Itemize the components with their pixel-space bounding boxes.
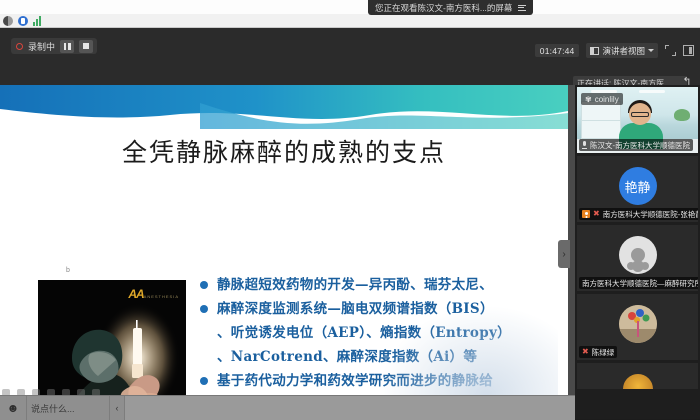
recording-label: 录制中	[28, 40, 55, 53]
meeting-app-window: 您正在观看陈汉文-南方医科...的屏幕 录制中 锁定画面 01:47:44 演讲…	[0, 0, 700, 419]
flower-icon: ✾	[585, 95, 592, 104]
view-mode-label: 演讲者视图	[602, 45, 645, 57]
participant-tile-avatar[interactable]: 南方医科大学顺德医院—麻醉研究所	[577, 225, 698, 291]
bullet-dot-icon	[200, 377, 208, 385]
shield-icon[interactable]	[18, 16, 28, 26]
chevron-down-icon	[648, 49, 654, 52]
participant-tile-avatar[interactable]: 艳静 ✖ 南方医科大学顺德医院-张艳静	[577, 156, 698, 222]
slide-wave-banner	[0, 85, 568, 130]
avatar	[619, 236, 657, 274]
bullet-text: 静脉超短效药物的开发—异丙酚、瑞芬太尼、	[217, 275, 493, 296]
shared-screen-stage[interactable]: 全凭静脉麻醉的成熟的支点 b	[0, 85, 568, 395]
recording-indicator: 录制中	[11, 38, 97, 54]
mic-muted-icon: ✖	[593, 210, 600, 218]
bullet-dot-icon	[200, 281, 208, 289]
layout-icon	[590, 47, 599, 55]
header-right-controls: 01:47:44 演讲者视图	[535, 43, 694, 58]
view-mode-selector[interactable]: 演讲者视图	[586, 43, 658, 58]
participant-name-label: ✖ 陈绿绿	[579, 346, 617, 358]
list-item: 静脉超短效药物的开发—异丙酚、瑞芬太尼、	[200, 275, 550, 296]
stop-recording-button[interactable]	[79, 40, 93, 53]
participant-name-label: 陈汉文-南方医科大学顺德医院	[579, 139, 693, 151]
avatar-photo-graphic	[619, 305, 657, 343]
participant-tile-partial[interactable]	[577, 363, 698, 389]
participant-tile-video[interactable]: ✾ coinlily 陈汉文-南方医科大学顺德医院	[577, 87, 698, 153]
watermark-label: ✾ coinlily	[581, 93, 623, 105]
mic-muted-icon: ✖	[582, 348, 589, 356]
slide-anchor-mark: b	[66, 267, 70, 274]
screen-share-tooltip: 您正在观看陈汉文-南方医科...的屏幕	[368, 0, 533, 15]
hamburger-icon[interactable]	[518, 5, 526, 11]
host-badge-icon	[582, 210, 590, 218]
bullet-dot-icon	[200, 305, 208, 313]
slide-title: 全凭静脉麻醉的成熟的支点	[0, 133, 568, 169]
rail-footer	[575, 395, 700, 419]
slide-glow-decoration	[378, 305, 558, 395]
meeting-header: 录制中 锁定画面 01:47:44 演讲者视图 正在讲话: 陈汉文-南方医...…	[0, 28, 700, 85]
participant-name-label: 南方医科大学顺德医院—麻醉研究所	[579, 277, 698, 289]
wave-graphic	[0, 85, 568, 130]
collapse-panel-button[interactable]: ›	[558, 240, 570, 268]
participant-tile-avatar[interactable]: ✖ 陈绿绿	[577, 294, 698, 360]
browser-toolbar	[0, 14, 700, 28]
participant-rail: ✾ coinlily 陈汉文-南方医科大学顺德医院 艳静 ✖ 南方医科大学顺德医…	[575, 85, 700, 419]
share-tooltip-text: 您正在观看陈汉文-南方医科...的屏幕	[375, 2, 512, 14]
avatar	[623, 374, 653, 389]
collapse-chat-button[interactable]: ‹	[110, 396, 125, 420]
slide-photo-logo: AAANESTHESIA	[128, 287, 179, 301]
dark-split-icon[interactable]	[3, 16, 13, 26]
chat-input[interactable]: 说点什么...	[26, 396, 110, 420]
slide-photo: AAANESTHESIA	[38, 280, 186, 395]
fullscreen-icon[interactable]	[665, 45, 676, 56]
side-panel-icon[interactable]	[683, 45, 694, 56]
signal-bars-icon[interactable]	[33, 16, 41, 26]
participant-name-label: ✖ 南方医科大学顺德医院-张艳静	[579, 208, 698, 220]
avatar: 艳静	[619, 167, 657, 205]
bottom-toolbar: ☻ 说点什么... ‹	[0, 395, 575, 420]
avatar	[619, 305, 657, 343]
emoji-icon[interactable]: ☻	[0, 396, 26, 420]
mic-icon	[582, 141, 587, 149]
record-dot-icon	[16, 43, 23, 50]
meeting-timer: 01:47:44	[535, 44, 580, 57]
toolbar-empty-strip	[125, 396, 575, 420]
browser-tab-strip	[0, 0, 700, 15]
pause-recording-button[interactable]	[60, 40, 74, 53]
